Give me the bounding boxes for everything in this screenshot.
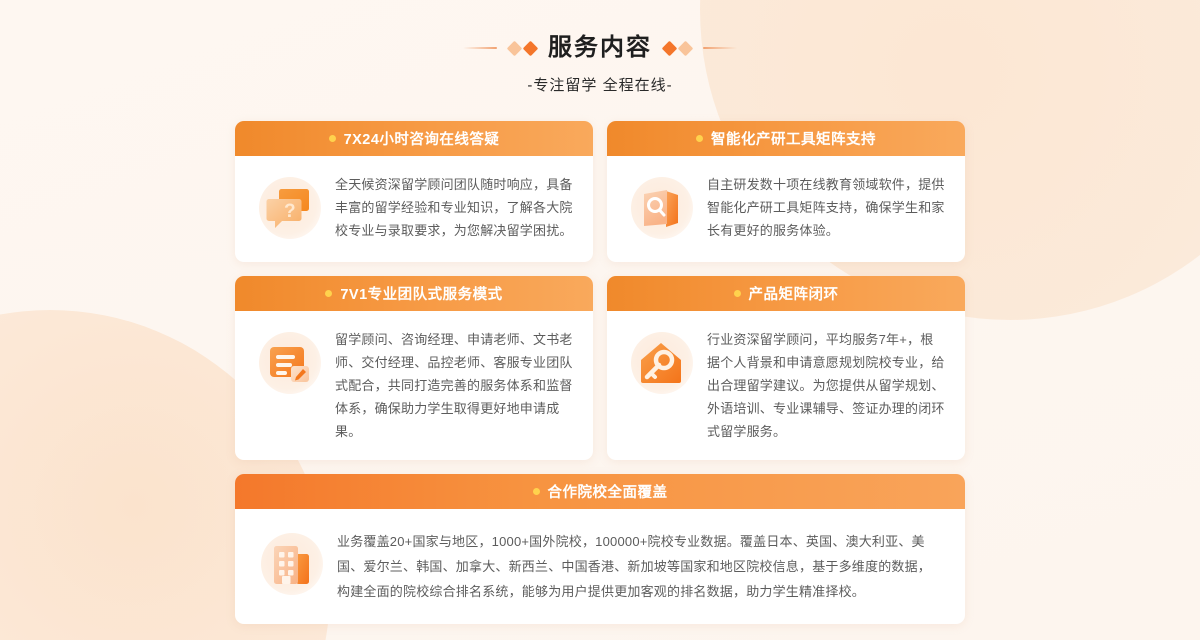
card-body: 留学顾问、咨询经理、申请老师、文书老师、交付经理、品控老师、客服专业团队式配合，… <box>235 311 593 460</box>
card-header: 7X24小时咨询在线答疑 <box>235 121 593 156</box>
page-title: 服务内容 <box>548 36 652 60</box>
card-title: 7X24小时咨询在线答疑 <box>344 128 500 149</box>
service-card-house-key[interactable]: 产品矩阵闭环 行业资深留学 <box>607 276 965 460</box>
house-key-icon <box>625 328 697 400</box>
card-body: 业务覆盖20+国家与地区，1000+国外院校，100000+院校专业数据。覆盖日… <box>235 509 965 624</box>
card-description: 业务覆盖20+国家与地区，1000+国外院校，100000+院校专业数据。覆盖日… <box>337 529 943 604</box>
card-body: 自主研发数十项在线教育领域软件，提供智能化产研工具矩阵支持，确保学生和家长有更好… <box>607 156 965 262</box>
card-header: 产品矩阵闭环 <box>607 276 965 311</box>
bullet-dot-icon <box>696 135 703 142</box>
folder-search-icon <box>625 173 697 245</box>
diamond-dark-icon <box>523 40 539 56</box>
card-header: 智能化产研工具矩阵支持 <box>607 121 965 156</box>
bullet-dot-icon <box>734 290 741 297</box>
card-title: 合作院校全面覆盖 <box>548 481 668 502</box>
section-title-row: 服务内容 <box>0 36 1200 60</box>
card-body: 行业资深留学顾问，平均服务7年+，根据个人背景和申请意愿规划院校专业，给出合理留… <box>607 311 965 460</box>
card-description: 自主研发数十项在线教育领域软件，提供智能化产研工具矩阵支持，确保学生和家长有更好… <box>707 173 945 242</box>
bullet-dot-icon <box>533 488 540 495</box>
page-subtitle: -专注留学 全程在线- <box>0 74 1200 95</box>
title-rule-right-icon <box>703 47 737 49</box>
chat-question-icon-svg: ? <box>261 181 317 237</box>
building-icon-svg <box>263 537 319 593</box>
title-diamonds-left-icon <box>509 43 536 54</box>
card-description: 留学顾问、咨询经理、申请老师、文书老师、交付经理、品控老师、客服专业团队式配合，… <box>335 328 573 443</box>
service-card-document-edit[interactable]: 7V1专业团队式服务模式 <box>235 276 593 460</box>
house-key-icon-svg <box>633 336 689 392</box>
service-card-grid: 7X24小时咨询在线答疑 <box>235 121 965 624</box>
diamond-light-icon <box>507 40 523 56</box>
card-description: 全天候资深留学顾问团队随时响应，具备丰富的留学经验和专业知识，了解各大院校专业与… <box>335 173 573 242</box>
document-edit-icon-svg <box>261 336 317 392</box>
building-icon <box>255 529 327 601</box>
svg-text:?: ? <box>284 201 296 222</box>
bullet-dot-icon <box>329 135 336 142</box>
card-header: 合作院校全面覆盖 <box>235 474 965 509</box>
service-card-folder-search[interactable]: 智能化产研工具矩阵支持 <box>607 121 965 262</box>
card-body: ? 全天候资深留学顾问团队随时响应，具备丰富的留学经验和专业知识，了解各大院校专… <box>235 156 593 262</box>
card-header: 7V1专业团队式服务模式 <box>235 276 593 311</box>
service-card-building[interactable]: 合作院校全面覆盖 <box>235 474 965 624</box>
title-diamonds-right-icon <box>664 43 691 54</box>
section-header: 服务内容 -专注留学 全程在线- <box>0 0 1200 95</box>
service-card-chat-question[interactable]: 7X24小时咨询在线答疑 <box>235 121 593 262</box>
diamond-dark-icon <box>662 40 678 56</box>
diamond-light-icon <box>678 40 694 56</box>
document-edit-icon <box>253 328 325 400</box>
card-description: 行业资深留学顾问，平均服务7年+，根据个人背景和申请意愿规划院校专业，给出合理留… <box>707 328 945 443</box>
card-title: 智能化产研工具矩阵支持 <box>711 128 876 149</box>
card-title: 产品矩阵闭环 <box>749 283 839 304</box>
title-rule-left-icon <box>463 47 497 49</box>
chat-question-icon: ? <box>253 173 325 245</box>
card-title: 7V1专业团队式服务模式 <box>340 283 502 304</box>
bullet-dot-icon <box>325 290 332 297</box>
folder-search-icon-svg <box>633 181 689 237</box>
